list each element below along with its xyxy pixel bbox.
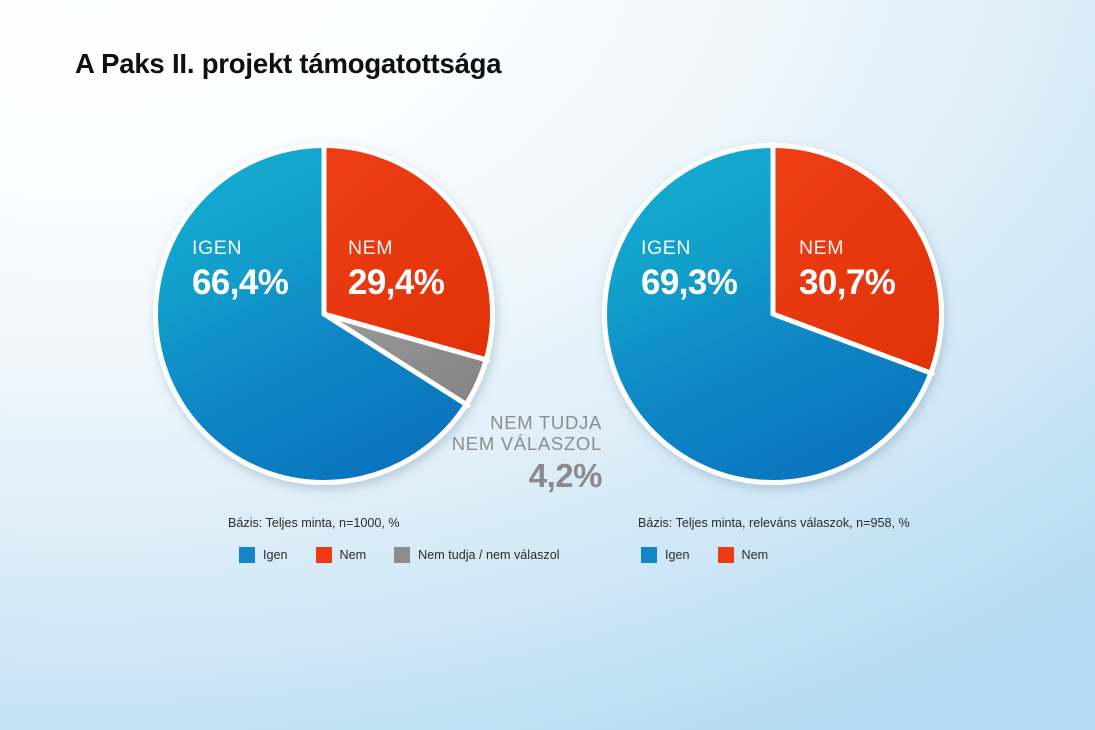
- pie-right-basis-note: Bázis: Teljes minta, releváns válaszok, …: [638, 516, 910, 530]
- legend-label-nem-right: Nem: [742, 548, 769, 562]
- pie-right-svg: [601, 142, 945, 486]
- pie-right-label-igen: IGEN 69,3%: [641, 239, 737, 300]
- pie-right-igen-value: 69,3%: [641, 265, 737, 300]
- legend-swatch-igen-right: [641, 547, 657, 563]
- pie-right-nem-caption: NEM: [799, 239, 895, 259]
- chart-right-relevans-valaszok: IGEN 69,3% NEM 30,7% Bázis: Teljes minta…: [0, 0, 1095, 600]
- legend-label-igen-right: Igen: [665, 548, 690, 562]
- legend-item-nem-right[interactable]: Nem: [718, 547, 769, 563]
- pie-chart-right: [601, 142, 945, 486]
- legend-swatch-nem-right: [718, 547, 734, 563]
- pie-right-label-nem: NEM 30,7%: [799, 239, 895, 300]
- pie-right-nem-value: 30,7%: [799, 265, 895, 300]
- infographic-canvas: A Paks II. projekt támogatottsága: [0, 0, 1095, 730]
- pie-right-igen-caption: IGEN: [641, 239, 737, 259]
- legend-item-igen-right[interactable]: Igen: [641, 547, 690, 563]
- pie-right-legend: Igen Nem: [641, 547, 768, 563]
